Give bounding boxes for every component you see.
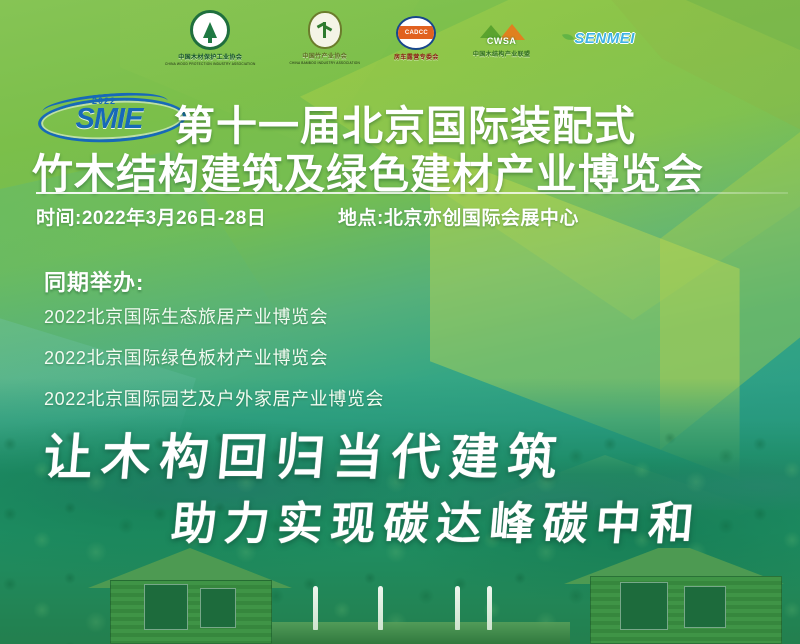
logo-senmei[interactable]: SENMEI: [564, 30, 635, 47]
house-roof-emblem-icon: CWSA: [478, 18, 526, 44]
senmei-mark: SENMEI: [574, 30, 635, 47]
logo-cwsa-china-wood-structure-alliance[interactable]: CWSA 中国木结构产业联盟: [473, 18, 531, 58]
logo-china-wood-protection-industry-association[interactable]: 中国木材保护工业协会 CHINA WOOD PROTECTION INDUSTR…: [165, 10, 255, 66]
bamboo-emblem-icon: [308, 11, 342, 49]
cadcc-roundel-icon: CADCC: [396, 16, 436, 50]
wooden-cabin-left: [48, 548, 298, 644]
cabin-body: [110, 580, 272, 644]
patio-umbrella: [378, 586, 383, 630]
concurrent-events-heading: 同期举办:: [44, 265, 144, 297]
smie-logo[interactable]: 2022 SMIE: [38, 94, 180, 140]
cabin-window: [684, 586, 726, 628]
patio-umbrella: [487, 586, 492, 630]
logo-label: 中国木材保护工业协会: [178, 52, 242, 61]
logo-bamboo-industry-association[interactable]: 中国竹产业协会 CHINA BAMBOO INDUSTRY ASSOCIATIO…: [289, 11, 360, 65]
event-venue: 地点:北京亦创国际会展中心: [338, 203, 579, 230]
concurrent-event-item: 2022北京国际绿色板材产业博览会: [44, 344, 384, 370]
cabin-scene: [0, 548, 800, 644]
cadcc-mark: CADCC: [405, 30, 428, 36]
concurrent-events-list: 2022北京国际生态旅居产业博览会 2022北京国际绿色板材产业博览会 2022…: [44, 303, 384, 426]
concurrent-event-item: 2022北京国际生态旅居产业博览会: [44, 303, 384, 329]
cabin-window: [200, 588, 236, 628]
cabin-window: [144, 584, 188, 630]
slogan-line-1: 让木构回归当代建筑: [41, 418, 569, 489]
smie-letters: SMIE: [48, 105, 170, 134]
patio-umbrella: [455, 586, 460, 630]
cabin-window: [620, 582, 668, 630]
event-meta: 时间:2022年3月26日-28日 地点:北京亦创国际会展中心: [36, 203, 788, 230]
exhibition-poster: 中国木材保护工业协会 CHINA WOOD PROTECTION INDUSTR…: [0, 0, 800, 644]
senmei-leaf-wordmark-icon: SENMEI: [564, 30, 635, 47]
logo-sublabel: CHINA WOOD PROTECTION INDUSTRY ASSOCIATI…: [165, 62, 255, 66]
logo-label: 中国竹产业协会: [302, 51, 347, 60]
concurrent-event-item: 2022北京国际园艺及户外家居产业博览会: [44, 385, 384, 411]
association-logo-strip: 中国木材保护工业协会 CHINA WOOD PROTECTION INDUSTR…: [0, 0, 800, 76]
logo-sublabel: CHINA BAMBOO INDUSTRY ASSOCIATION: [289, 61, 360, 65]
event-date: 时间:2022年3月26日-28日: [36, 203, 338, 230]
logo-cadcc-rv-camping-committee[interactable]: CADCC 房车露营专委会: [394, 16, 439, 61]
cwsa-mark: CWSA: [478, 36, 526, 46]
logo-label: 中国木结构产业联盟: [473, 49, 531, 58]
logo-label: 房车露营专委会: [394, 52, 439, 61]
pine-tree-emblem-icon: [190, 10, 230, 50]
poster-title-line-2: 竹木结构建筑及绿色建材产业博览会: [32, 140, 704, 200]
title-divider: [36, 192, 788, 194]
patio-umbrella: [313, 586, 318, 630]
wooden-cabin-right: [520, 548, 790, 644]
slogan-line-2: 助力实现碳达峰碳中和: [169, 487, 705, 552]
